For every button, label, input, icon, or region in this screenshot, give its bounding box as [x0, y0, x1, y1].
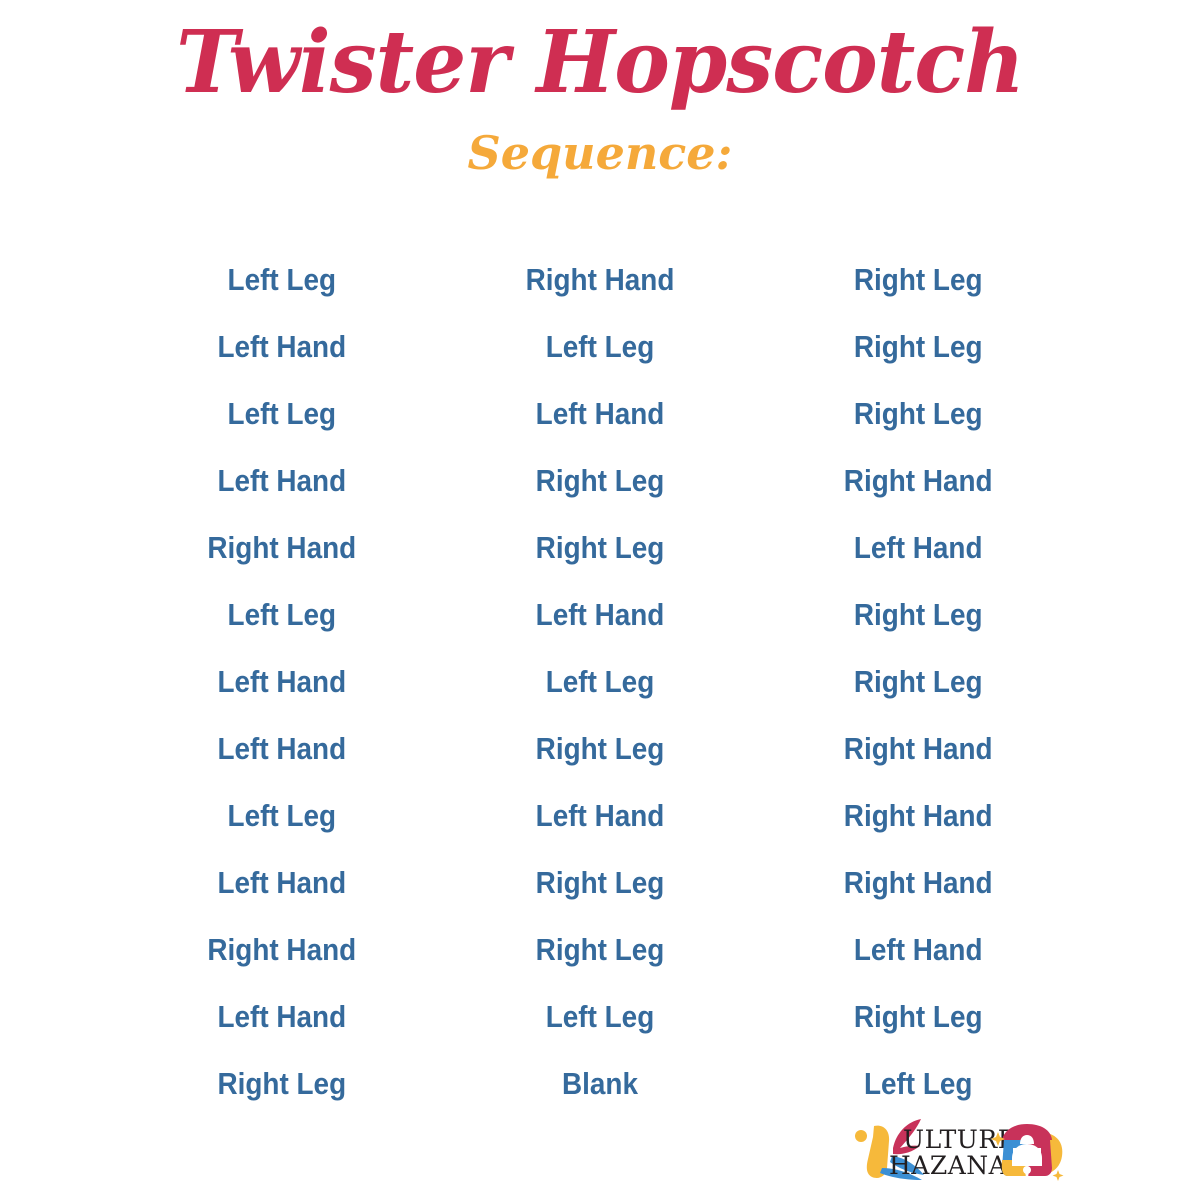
sequence-cell: Right Leg: [456, 715, 744, 782]
sequence-cell: Left Hand: [456, 380, 744, 447]
sequence-cell: Right Leg: [456, 447, 744, 514]
sequence-cell: Right Hand: [138, 916, 426, 983]
sequence-cell: Left Hand: [456, 581, 744, 648]
sequence-cell: Left Leg: [138, 380, 426, 447]
sequence-cell: Right Leg: [456, 916, 744, 983]
sequence-cell: Left Hand: [138, 447, 426, 514]
sequence-cell: Right Leg: [774, 380, 1062, 447]
sequence-cell: Left Hand: [138, 983, 426, 1050]
sequence-cell: Left Leg: [456, 648, 744, 715]
kulture-hazana-logo: ULTURE HAZANA: [852, 1110, 1082, 1184]
sequence-cell: Right Leg: [774, 648, 1062, 715]
sequence-cell: Left Hand: [774, 514, 1062, 581]
page-subtitle: Sequence:: [0, 130, 1200, 176]
sequence-cell: Left Leg: [456, 313, 744, 380]
sequence-cell: Left Leg: [138, 581, 426, 648]
sequence-cell: Right Hand: [774, 782, 1062, 849]
sequence-cell: Left Hand: [138, 849, 426, 916]
sequence-cell: Left Hand: [138, 715, 426, 782]
sequence-cell: Right Leg: [774, 581, 1062, 648]
sequence-cell: Right Leg: [456, 514, 744, 581]
sequence-cell: Left Leg: [456, 983, 744, 1050]
sequence-cell: Left Hand: [774, 916, 1062, 983]
sequence-cell: Left Hand: [456, 782, 744, 849]
logo-wordmark: ULTURE HAZANA: [889, 1125, 1016, 1180]
sequence-cell: Right Leg: [456, 849, 744, 916]
sequence-cell: Right Hand: [456, 246, 744, 313]
page-header: Twister Hopscotch Sequence:: [0, 0, 1200, 176]
sequence-cell: Right Hand: [138, 514, 426, 581]
sequence-cell: Left Leg: [138, 246, 426, 313]
sequence-cell: Right Hand: [774, 447, 1062, 514]
logo-line-2: HAZANA: [889, 1151, 1008, 1180]
sequence-cell: Right Hand: [774, 849, 1062, 916]
sequence-cell: Left Leg: [774, 1050, 1062, 1117]
sequence-cell: Right Hand: [774, 715, 1062, 782]
sequence-grid: Left LegRight HandRight LegLeft HandLeft…: [0, 246, 1200, 1117]
sequence-cell: Right Leg: [774, 246, 1062, 313]
sequence-cell: Right Leg: [774, 313, 1062, 380]
sequence-cell: Blank: [456, 1050, 744, 1117]
page-title: Twister Hopscotch: [18, 18, 1182, 108]
sequence-cell: Right Leg: [138, 1050, 426, 1117]
sequence-cell: Left Hand: [138, 648, 426, 715]
sequence-cell: Left Leg: [138, 782, 426, 849]
sequence-cell: Left Hand: [138, 313, 426, 380]
sequence-cell: Right Leg: [774, 983, 1062, 1050]
